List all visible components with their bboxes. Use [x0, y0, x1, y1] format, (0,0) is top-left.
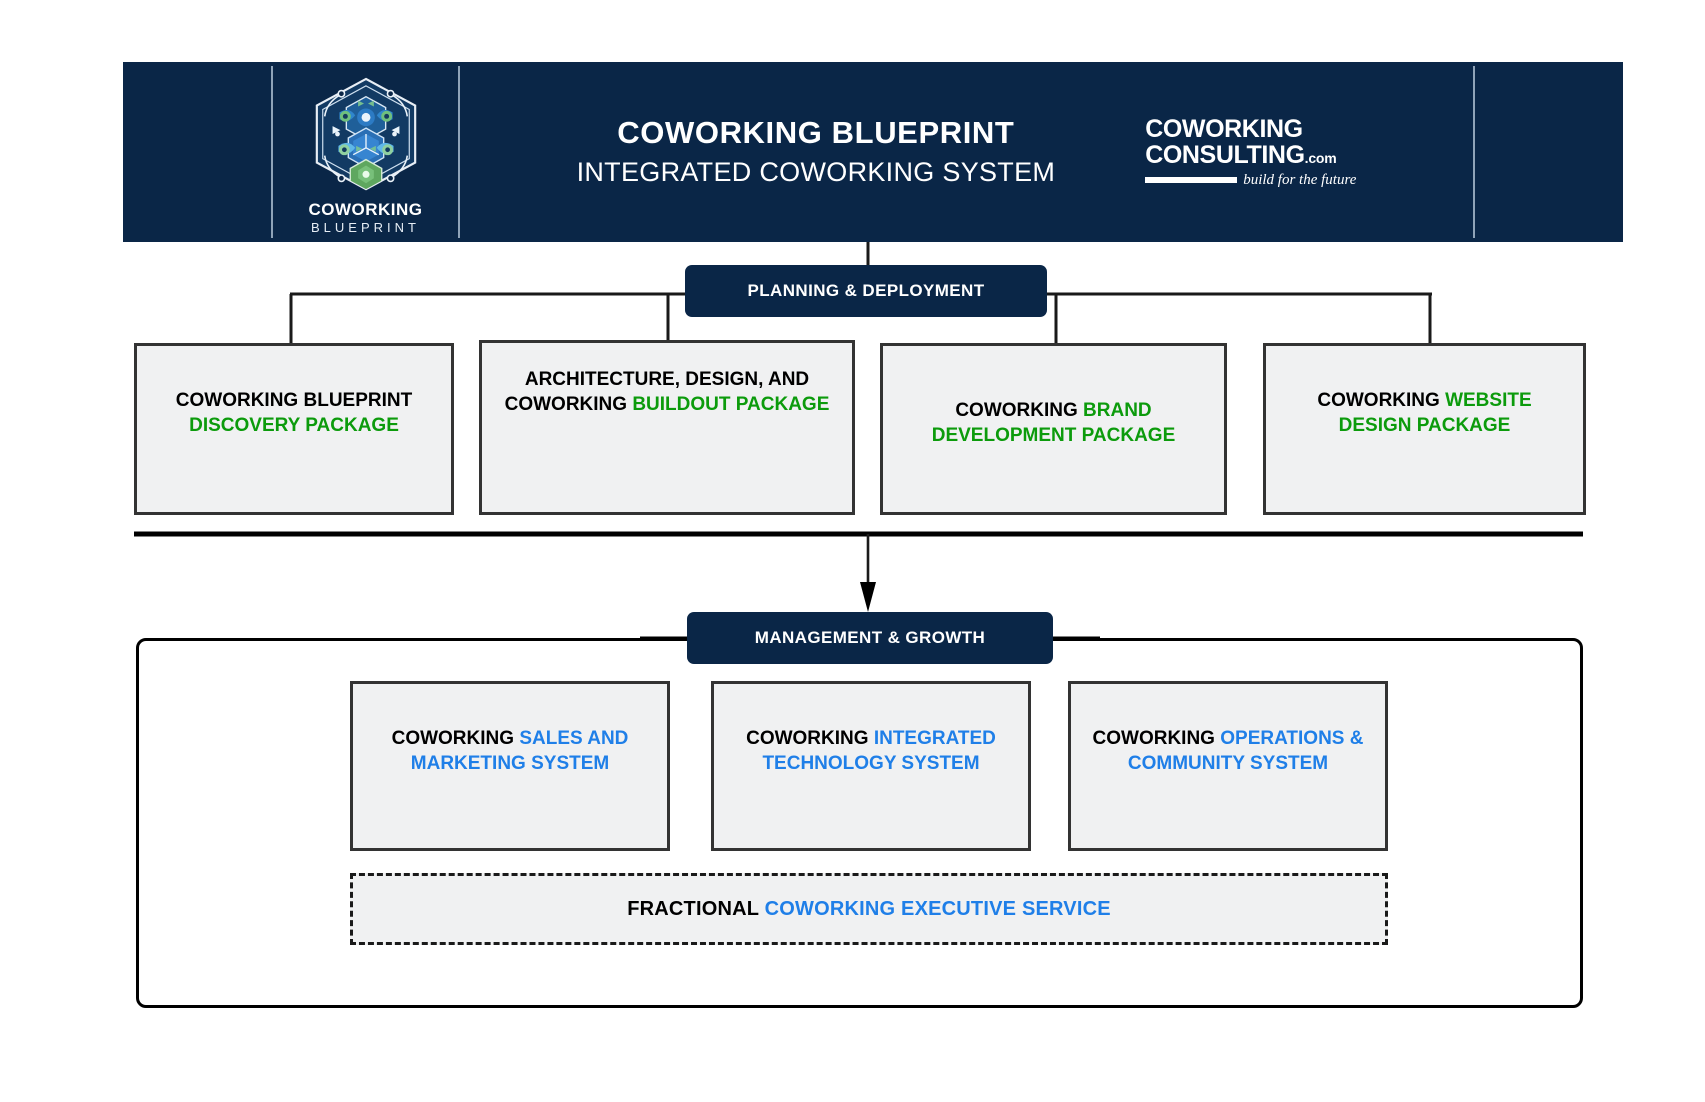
card-coworking-website-design-package[interactable]: COWORKING WEBSITE DESIGN PACKAGE	[1263, 343, 1586, 515]
card-fractional-coworking-executive-service[interactable]: FRACTIONAL COWORKING EXECUTIVE SERVICE	[350, 873, 1388, 945]
card-architecture-design-coworking-buildout-package[interactable]: ARCHITECTURE, DESIGN, AND COWORKING BUIL…	[479, 340, 855, 515]
cc-logo-tagline: build for the future	[1243, 173, 1356, 188]
card-text-black-line1: ARCHITECTURE, DESIGN, AND	[525, 369, 809, 390]
card-text-black-line2: COWORKING	[505, 394, 633, 415]
logo-wordmark-bottom: BLUEPRINT	[308, 221, 422, 234]
planning-and-deployment-pill: PLANNING & DEPLOYMENT	[685, 265, 1047, 317]
card-text-accent: COWORKING EXECUTIVE SERVICE	[765, 898, 1111, 920]
card-text: COWORKING SALES AND MARKETING SYSTEM	[367, 684, 653, 777]
card-text-black: FRACTIONAL	[627, 898, 764, 920]
card-text-black: COWORKING	[1093, 728, 1221, 749]
card-text-black: COWORKING	[746, 728, 874, 749]
card-text: COWORKING WEBSITE DESIGN PACKAGE	[1280, 346, 1569, 439]
card-text-accent: DISCOVERY PACKAGE	[189, 415, 399, 436]
hexagon-logo-icon	[307, 73, 425, 199]
card-text: FRACTIONAL COWORKING EXECUTIVE SERVICE	[627, 898, 1111, 921]
management-and-growth-pill: MANAGEMENT & GROWTH	[687, 612, 1053, 664]
header-banner: COWORKING BLUEPRINT COWORKING BLUEPRINT …	[123, 62, 1623, 242]
card-coworking-integrated-technology-system[interactable]: COWORKING INTEGRATED TECHNOLOGY SYSTEM	[711, 681, 1031, 851]
card-text: COWORKING BRAND DEVELOPMENT PACKAGE	[897, 346, 1210, 449]
card-coworking-operations-community-system[interactable]: COWORKING OPERATIONS & COMMUNITY SYSTEM	[1068, 681, 1388, 851]
cc-logo-line2: CONSULTING.com	[1145, 143, 1356, 168]
card-text-accent: BUILDOUT PACKAGE	[632, 394, 829, 415]
card-text-black: COWORKING BLUEPRINT	[176, 390, 412, 411]
cc-logo-dotcom: .com	[1305, 150, 1337, 166]
header-left-spacer	[123, 62, 271, 242]
header-right-spacer	[1475, 62, 1623, 242]
coworking-consulting-logo: COWORKING CONSULTING.com build for the f…	[1145, 117, 1356, 188]
cc-logo-line1: COWORKING	[1145, 117, 1356, 142]
card-text: COWORKING BLUEPRINT DISCOVERY PACKAGE	[151, 346, 437, 439]
page-title: COWORKING BLUEPRINT	[577, 114, 1056, 153]
header-title-block: COWORKING BLUEPRINT INTEGRATED COWORKING…	[577, 114, 1056, 191]
header-center: COWORKING BLUEPRINT INTEGRATED COWORKING…	[460, 62, 1473, 242]
card-text-black: COWORKING	[392, 728, 520, 749]
cc-logo-rule	[1145, 177, 1237, 183]
card-text: ARCHITECTURE, DESIGN, AND COWORKING BUIL…	[496, 343, 838, 418]
card-text-black: COWORKING	[1317, 390, 1445, 411]
card-coworking-blueprint-discovery-package[interactable]: COWORKING BLUEPRINT DISCOVERY PACKAGE	[134, 343, 454, 515]
cc-logo-tagline-row: build for the future	[1145, 173, 1356, 188]
page-subtitle: INTEGRATED COWORKING SYSTEM	[577, 155, 1056, 190]
card-text-black: COWORKING	[955, 400, 1083, 421]
coworking-blueprint-logo: COWORKING BLUEPRINT	[273, 62, 458, 242]
card-coworking-brand-development-package[interactable]: COWORKING BRAND DEVELOPMENT PACKAGE	[880, 343, 1227, 515]
card-text: COWORKING INTEGRATED TECHNOLOGY SYSTEM	[728, 684, 1014, 777]
logo-wordmark-top: COWORKING	[308, 201, 422, 218]
logo-wordmark: COWORKING BLUEPRINT	[308, 201, 422, 234]
card-coworking-sales-and-marketing-system[interactable]: COWORKING SALES AND MARKETING SYSTEM	[350, 681, 670, 851]
card-text: COWORKING OPERATIONS & COMMUNITY SYSTEM	[1085, 684, 1371, 777]
